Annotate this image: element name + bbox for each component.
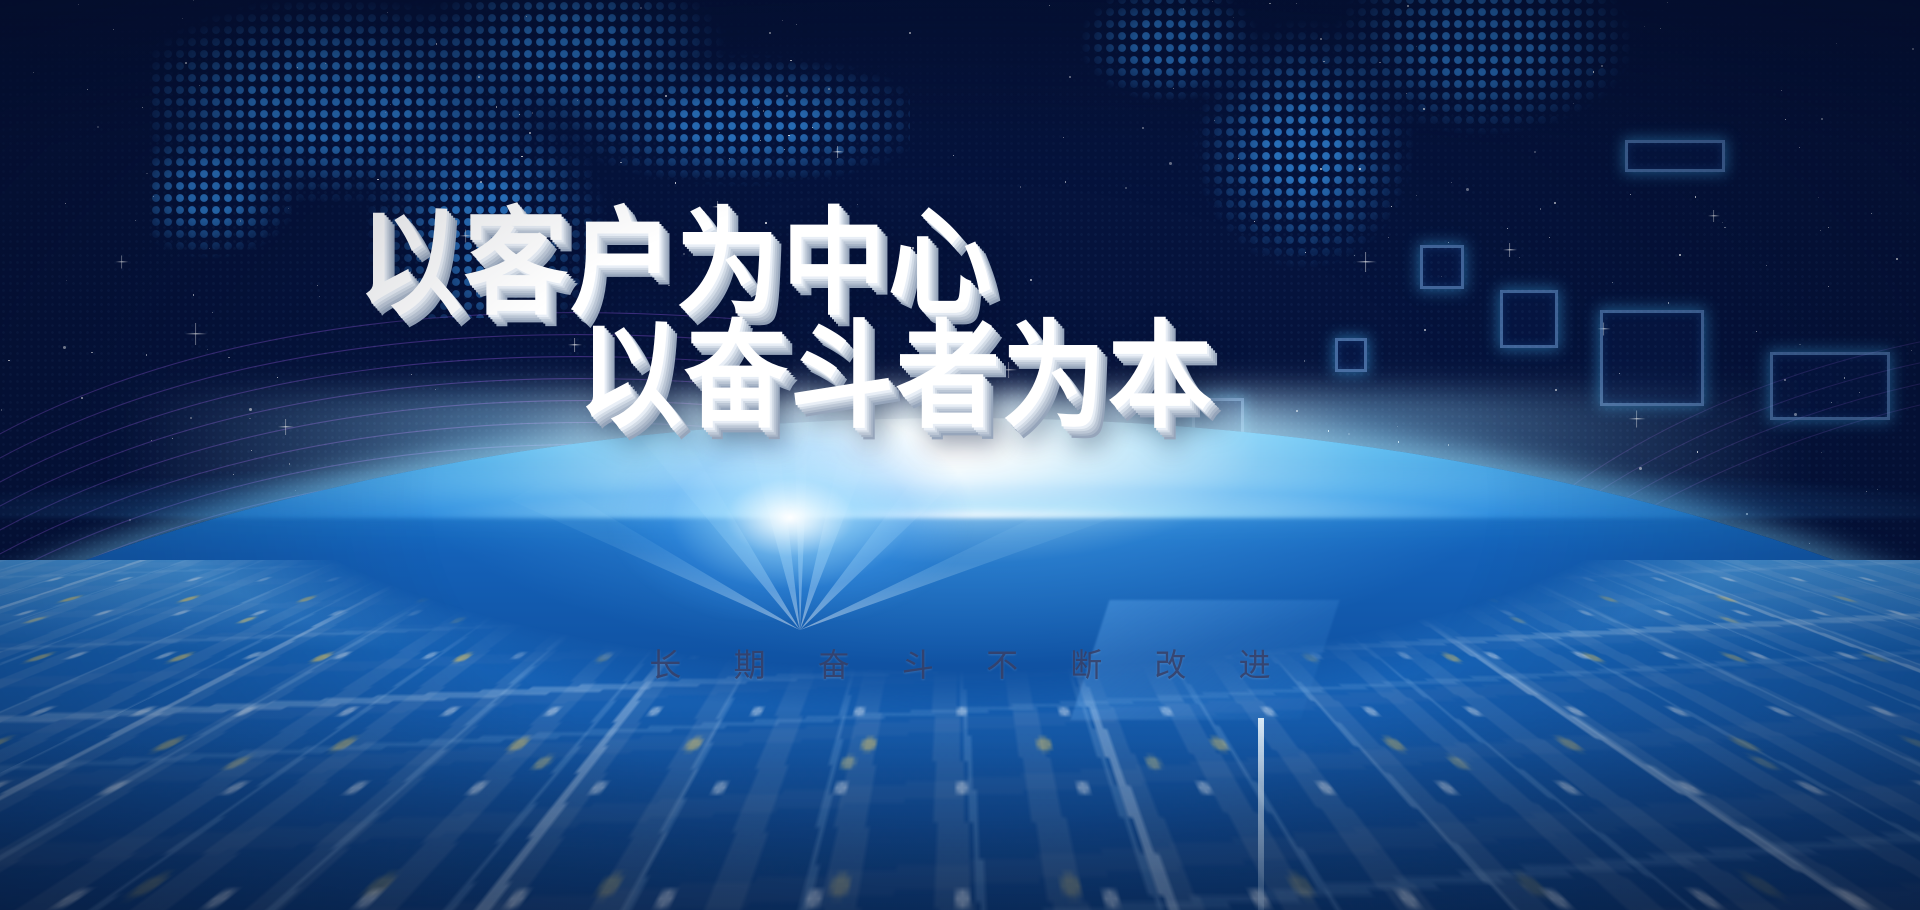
banner-canvas: 以客户为中心 以奋斗者为本 长 期 奋 斗 不 断 改 进 [0,0,1920,910]
scene-vignette [0,0,1920,910]
